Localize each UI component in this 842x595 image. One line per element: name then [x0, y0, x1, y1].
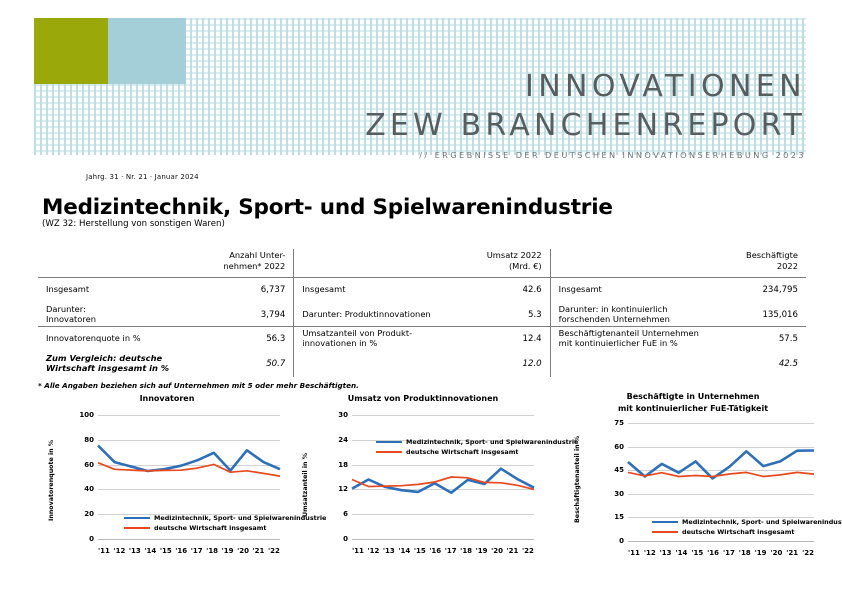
y-axis-tick: 100 — [79, 411, 94, 419]
x-axis-tick: '13 — [383, 547, 395, 555]
x-axis-tick: '13 — [660, 549, 672, 557]
row-label: Beschäftigtenanteil Unternehmenmit konti… — [559, 329, 773, 349]
y-axis-tick: 30 — [338, 411, 348, 419]
chart-title-line1: Beschäftigte in Unternehmen — [552, 391, 834, 403]
header-line: Umsatz 2022 — [487, 250, 542, 261]
x-axis: '11'12'13'14'15'16'17'18'19'20'21'22 — [628, 549, 814, 557]
x-axis: '11'12'13'14'15'16'17'18'19'20'21'22 — [352, 547, 534, 555]
x-axis-tick: '16 — [707, 549, 719, 557]
table-section-counts: Insgesamt234,795Darunter: in kontinuierl… — [551, 278, 806, 327]
table-row: Darunter: Produktinnovationen5.3 — [302, 303, 541, 328]
y-axis-label: Umsatzanteil in % — [302, 453, 309, 517]
x-axis-tick: '18 — [206, 547, 218, 555]
x-axis-tick: '22 — [522, 547, 534, 555]
y-axis-tick: 0 — [343, 535, 348, 543]
y-axis-tick: 80 — [84, 436, 94, 444]
x-axis-tick: '16 — [175, 547, 187, 555]
row-value: 12.0 — [517, 359, 542, 369]
y-axis-tick: 45 — [614, 466, 624, 474]
table-column-2: Umsatz 2022(Mrd. €)Insgesamt42.6Darunter… — [293, 249, 549, 377]
x-axis: '11'12'13'14'15'16'17'18'19'20'21'22 — [98, 547, 280, 555]
table-row: Umsatzanteil von Produkt-innovationen in… — [302, 327, 541, 352]
report-title-branchenreport: ZEW BRANCHENREPORT — [365, 111, 806, 141]
x-axis-tick: '18 — [739, 549, 751, 557]
table-section-shares: Beschäftigtenanteil Unternehmenmit konti… — [551, 327, 806, 377]
table-column-1: Anzahl Unter-nehmen* 2022Insgesamt6,737D… — [38, 249, 293, 377]
legend-label: deutsche Wirtschaft insgesamt — [154, 524, 266, 532]
y-axis-tick: 60 — [84, 461, 94, 469]
y-axis-tick: 0 — [89, 535, 94, 543]
table-section-counts: Insgesamt42.6Darunter: Produktinnovation… — [294, 278, 549, 327]
chart-legend: Medizintechnik, Sport- und Spielwarenind… — [652, 517, 842, 537]
x-axis-tick: '17 — [723, 549, 735, 557]
table-row: Darunter: in kontinuierlichforschenden U… — [559, 303, 798, 328]
x-axis-tick: '14 — [398, 547, 410, 555]
page-title: Medizintechnik, Sport- und Spielwarenind… — [42, 195, 613, 220]
y-axis-tick: 6 — [343, 510, 348, 518]
y-axis-tick: 40 — [84, 485, 94, 493]
table-row: 42.5 — [559, 352, 798, 377]
row-label: Darunter:Innovatoren — [46, 305, 255, 325]
row-value: 135,016 — [756, 310, 798, 320]
page-subtitle: (WZ 32: Herstellung von sonstigen Waren) — [42, 219, 225, 229]
table-row: Insgesamt42.6 — [302, 278, 541, 303]
row-value: 42.5 — [773, 359, 798, 369]
table-section-counts: Insgesamt6,737Darunter:Innovatoren3,794 — [38, 278, 293, 327]
y-axis-label: Innovatorenquote in % — [48, 440, 55, 521]
table-column-header: Anzahl Unter-nehmen* 2022 — [38, 249, 293, 278]
x-axis-tick: '20 — [237, 547, 249, 555]
x-axis-tick: '14 — [144, 547, 156, 555]
chart-title-line1: Innovatoren — [36, 393, 298, 405]
row-label: Zum Vergleich: deutscheWirtschaft insges… — [46, 354, 260, 374]
x-axis-tick: '21 — [253, 547, 265, 555]
legend-swatch — [652, 531, 678, 533]
x-axis-tick: '14 — [675, 549, 687, 557]
chart-umsatz-produktinnovationen: Umsatz von ProduktinnovationenUmsatzante… — [292, 393, 554, 593]
y-axis-tick: 0 — [619, 537, 624, 545]
y-axis-tick: 24 — [338, 436, 348, 444]
series-lines — [352, 415, 534, 539]
report-tagline: // ERGEBNISSE DER DEUTSCHEN INNOVATIONSE… — [419, 150, 806, 160]
chart-title: Innovatoren — [36, 393, 298, 405]
row-label: Insgesamt — [46, 285, 255, 295]
row-value: 56.3 — [260, 334, 285, 344]
y-axis-tick: 18 — [338, 461, 348, 469]
issue-line: Jahrg. 31 · Nr. 21 · Januar 2024 — [86, 173, 199, 181]
gridline — [352, 539, 534, 540]
table-row: 12.0 — [302, 352, 541, 377]
x-axis-tick: '12 — [367, 547, 379, 555]
legend-swatch — [376, 451, 402, 453]
x-axis-tick: '21 — [786, 549, 798, 557]
y-axis-tick: 60 — [614, 443, 624, 451]
summary-tables: Anzahl Unter-nehmen* 2022Insgesamt6,737D… — [38, 249, 806, 377]
legend-label: Medizintechnik, Sport- und Spielwarenind… — [682, 518, 842, 526]
logo-block-blue — [108, 18, 186, 84]
series-line-1 — [98, 446, 280, 472]
header-line: nehmen* 2022 — [223, 261, 285, 272]
table-section-shares: Umsatzanteil von Produkt-innovationen in… — [294, 327, 549, 377]
gridline — [98, 539, 280, 540]
row-value: 50.7 — [260, 359, 285, 369]
chart-title: Beschäftigte in Unternehmenmit kontinuie… — [552, 391, 834, 416]
x-axis-tick: '18 — [460, 547, 472, 555]
legend-swatch — [124, 517, 150, 520]
y-axis-label: Beschäftigtenanteil in % — [574, 436, 581, 523]
row-label: Innovatorenquote in % — [46, 334, 260, 344]
y-axis-tick: 12 — [338, 485, 348, 493]
table-column-header: Beschäftigte2022 — [551, 249, 806, 278]
x-axis-tick: '22 — [802, 549, 814, 557]
chart-row: InnovatorenInnovatorenquote in %02040608… — [0, 393, 842, 593]
header-line: (Mrd. €) — [509, 261, 542, 272]
legend-item-1: Medizintechnik, Sport- und Spielwarenind… — [652, 517, 842, 527]
report-title-innovationen: INNOVATIONEN — [525, 72, 806, 102]
report-header: INNOVATIONEN ZEW BRANCHENREPORT // ERGEB… — [0, 0, 842, 175]
row-label: Insgesamt — [302, 285, 516, 295]
x-axis-tick: '17 — [191, 547, 203, 555]
chart-title-line1: Umsatz von Produktinnovationen — [292, 393, 554, 405]
table-row: Darunter:Innovatoren3,794 — [46, 303, 285, 328]
x-axis-tick: '12 — [644, 549, 656, 557]
chart-beschaeftigte-fue: Beschäftigte in Unternehmenmit kontinuie… — [552, 393, 834, 593]
x-axis-tick: '13 — [129, 547, 141, 555]
header-line: Anzahl Unter- — [229, 250, 285, 261]
legend-item-2: deutsche Wirtschaft insgesamt — [376, 447, 578, 457]
x-axis-tick: '19 — [476, 547, 488, 555]
legend-item-1: Medizintechnik, Sport- und Spielwarenind… — [376, 437, 578, 447]
legend-swatch — [376, 441, 402, 444]
x-axis-tick: '15 — [691, 549, 703, 557]
row-value: 42.6 — [517, 285, 542, 295]
chart-innovatoren: InnovatorenInnovatorenquote in %02040608… — [36, 393, 298, 593]
chart-title: Umsatz von Produktinnovationen — [292, 393, 554, 405]
plot-area: 0612182430'11'12'13'14'15'16'17'18'19'20… — [352, 415, 534, 539]
y-axis-tick: 15 — [614, 513, 624, 521]
x-axis-tick: '11 — [98, 547, 110, 555]
legend-label: deutsche Wirtschaft insgesamt — [406, 448, 518, 456]
table-footnote: * Alle Angaben beziehen sich auf Unterne… — [38, 381, 359, 390]
row-value: 57.5 — [773, 334, 798, 344]
table-row: Insgesamt6,737 — [46, 278, 285, 303]
x-axis-tick: '22 — [268, 547, 280, 555]
x-axis-tick: '19 — [755, 549, 767, 557]
chart-title-line2: mit kontinuierlicher FuE-Tätigkeit — [552, 403, 834, 415]
x-axis-tick: '21 — [507, 547, 519, 555]
row-label: Umsatzanteil von Produkt-innovationen in… — [302, 329, 516, 349]
gridline — [628, 541, 814, 542]
y-axis-tick: 75 — [614, 419, 624, 427]
x-axis-tick: '11 — [628, 549, 640, 557]
logo-block-green — [34, 18, 108, 84]
x-axis-tick: '15 — [414, 547, 426, 555]
row-value: 6,737 — [255, 285, 286, 295]
row-label: Darunter: in kontinuierlichforschenden U… — [559, 305, 757, 325]
legend-label: deutsche Wirtschaft insgesamt — [682, 528, 794, 536]
legend-swatch — [652, 521, 678, 524]
legend-swatch — [124, 527, 150, 529]
table-row: Insgesamt234,795 — [559, 278, 798, 303]
y-axis-tick: 30 — [614, 490, 624, 498]
table-row: Innovatorenquote in %56.3 — [46, 327, 285, 352]
x-axis-tick: '15 — [160, 547, 172, 555]
table-row: Beschäftigtenanteil Unternehmenmit konti… — [559, 327, 798, 352]
x-axis-tick: '20 — [491, 547, 503, 555]
series-line-1 — [352, 469, 534, 493]
x-axis-tick: '12 — [113, 547, 125, 555]
legend-item-2: deutsche Wirtschaft insgesamt — [652, 527, 842, 537]
row-value: 3,794 — [255, 310, 286, 320]
row-label: Darunter: Produktinnovationen — [302, 310, 522, 320]
x-axis-tick: '17 — [445, 547, 457, 555]
chart-legend: Medizintechnik, Sport- und Spielwarenind… — [376, 437, 578, 457]
row-label: Insgesamt — [559, 285, 757, 295]
row-value: 5.3 — [522, 310, 542, 320]
x-axis-tick: '19 — [222, 547, 234, 555]
x-axis-tick: '20 — [770, 549, 782, 557]
table-row: Zum Vergleich: deutscheWirtschaft insges… — [46, 352, 285, 377]
table-section-shares: Innovatorenquote in %56.3Zum Vergleich: … — [38, 327, 293, 377]
row-value: 234,795 — [756, 285, 798, 295]
table-column-header: Umsatz 2022(Mrd. €) — [294, 249, 549, 278]
table-column-3: Beschäftigte2022Insgesamt234,795Darunter… — [550, 249, 806, 377]
header-line: 2022 — [777, 261, 798, 272]
y-axis-tick: 20 — [84, 510, 94, 518]
row-value: 12.4 — [517, 334, 542, 344]
x-axis-tick: '16 — [429, 547, 441, 555]
header-line: Beschäftigte — [746, 250, 798, 261]
x-axis-tick: '11 — [352, 547, 364, 555]
